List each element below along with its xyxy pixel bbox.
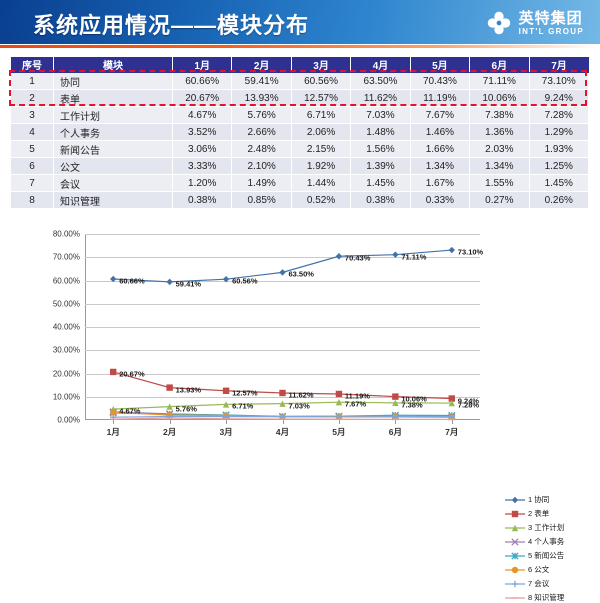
row-value-m5: 1.66% xyxy=(410,141,469,158)
y-axis-tick-label: 70.00% xyxy=(53,253,80,262)
row-module-name: 会议 xyxy=(54,175,173,192)
chart-data-label: 73.10% xyxy=(458,248,483,257)
legend-label: 7 会议 xyxy=(528,578,549,589)
chart-marker-diamond xyxy=(279,269,285,275)
legend-marker-icon xyxy=(505,495,525,505)
legend-marker-icon xyxy=(505,593,525,603)
legend-item[interactable]: 7 会议 xyxy=(505,578,597,589)
row-value-m6: 71.11% xyxy=(470,73,529,90)
table-col-header-1: 模块 xyxy=(54,57,173,73)
x-axis-tick-mark xyxy=(452,420,453,424)
table-header-row: 序号模块1月2月3月4月5月6月7月 xyxy=(11,57,589,73)
legend-item[interactable]: 8 知识管理 xyxy=(505,592,597,603)
y-axis-tick-label: 0.00% xyxy=(57,416,80,425)
row-value-m6: 7.38% xyxy=(470,107,529,124)
module-distribution-table: 序号模块1月2月3月4月5月6月7月 1协同60.66%59.41%60.56%… xyxy=(11,57,589,209)
row-value-m1: 0.38% xyxy=(173,192,232,209)
row-value-m2: 1.49% xyxy=(232,175,291,192)
chart-marker-diamond xyxy=(512,496,518,502)
legend-item[interactable]: 5 新闻公告 xyxy=(505,550,597,561)
y-axis-tick-label: 40.00% xyxy=(53,323,80,332)
chart-series-layer xyxy=(85,234,480,420)
legend-label: 4 个人事务 xyxy=(528,536,564,547)
chart-plot-area: 0.00%10.00%20.00%30.00%40.00%50.00%60.00… xyxy=(85,234,480,420)
row-value-m2: 59.41% xyxy=(232,73,291,90)
legend-marker-icon xyxy=(505,523,525,533)
chart-data-label: 11.62% xyxy=(289,390,314,399)
row-value-m2: 2.48% xyxy=(232,141,291,158)
row-value-m3: 6.71% xyxy=(291,107,350,124)
row-value-m2: 5.76% xyxy=(232,107,291,124)
chart-data-label: 7.67% xyxy=(345,400,366,409)
row-value-m6: 2.03% xyxy=(470,141,529,158)
row-value-m1: 1.20% xyxy=(173,175,232,192)
table-col-header-4: 3月 xyxy=(291,57,350,73)
table-col-header-8: 7月 xyxy=(529,57,588,73)
row-index: 7 xyxy=(11,175,54,192)
chart-legend: 1 协同2 表单3 工作计划4 个人事务5 新闻公告6 公文7 会议8 知识管理 xyxy=(505,494,597,603)
row-value-m1: 4.67% xyxy=(173,107,232,124)
chart-marker-diamond xyxy=(223,276,229,282)
x-axis-tick-label: 5月 xyxy=(332,426,345,438)
chart-data-label: 7.38% xyxy=(401,400,422,409)
logo-english-name: INT'L GROUP xyxy=(519,28,584,36)
row-value-m2: 13.93% xyxy=(232,90,291,107)
table-row: 1协同60.66%59.41%60.56%63.50%70.43%71.11%7… xyxy=(11,73,589,90)
header-divider xyxy=(0,45,600,48)
legend-item[interactable]: 1 协同 xyxy=(505,494,597,505)
chart-data-label: 71.11% xyxy=(401,252,426,261)
row-index: 4 xyxy=(11,124,54,141)
chart-data-label: 7.03% xyxy=(289,401,310,410)
row-module-name: 协同 xyxy=(54,73,173,90)
y-axis-tick-label: 10.00% xyxy=(53,392,80,401)
row-value-m1: 20.67% xyxy=(173,90,232,107)
module-trend-chart: 0.00%10.00%20.00%30.00%40.00%50.00%60.00… xyxy=(0,222,600,453)
row-value-m7: 1.29% xyxy=(529,124,588,141)
row-value-m4: 11.62% xyxy=(351,90,410,107)
table-row: 4个人事务3.52%2.66%2.06%1.48%1.46%1.36%1.29% xyxy=(11,124,589,141)
chart-data-label: 7.28% xyxy=(458,401,479,410)
chart-marker-diamond xyxy=(336,253,342,259)
chart-data-label: 60.56% xyxy=(232,277,257,286)
row-value-m7: 9.24% xyxy=(529,90,588,107)
row-value-m3: 2.06% xyxy=(291,124,350,141)
x-axis-tick-label: 2月 xyxy=(163,426,176,438)
row-value-m7: 0.26% xyxy=(529,192,588,209)
brand-logo: 英特集团 INT'L GROUP xyxy=(485,8,584,38)
chart-marker-square xyxy=(392,393,398,399)
row-value-m3: 1.44% xyxy=(291,175,350,192)
row-value-m5: 0.33% xyxy=(410,192,469,209)
legend-label: 3 工作计划 xyxy=(528,522,564,533)
chart-data-label: 12.57% xyxy=(232,388,257,397)
row-value-m6: 0.27% xyxy=(470,192,529,209)
legend-item[interactable]: 6 公文 xyxy=(505,564,597,575)
row-module-name: 新闻公告 xyxy=(54,141,173,158)
row-value-m7: 73.10% xyxy=(529,73,588,90)
row-module-name: 个人事务 xyxy=(54,124,173,141)
row-value-m3: 0.52% xyxy=(291,192,350,209)
table-row: 7会议1.20%1.49%1.44%1.45%1.67%1.55%1.45% xyxy=(11,175,589,192)
x-axis-tick-mark xyxy=(283,420,284,424)
chart-marker-diamond xyxy=(449,247,455,253)
row-value-m7: 1.45% xyxy=(529,175,588,192)
legend-marker-icon xyxy=(505,537,525,547)
table-col-header-5: 4月 xyxy=(351,57,410,73)
page-header: 系统应用情况——模块分布 英特集团 INT'L GROUP xyxy=(0,0,600,44)
row-value-m7: 1.25% xyxy=(529,158,588,175)
chart-data-label: 4.67% xyxy=(119,407,140,416)
legend-item[interactable]: 4 个人事务 xyxy=(505,536,597,547)
chart-marker-diamond xyxy=(110,276,116,282)
chart-data-label: 20.67% xyxy=(119,369,144,378)
chart-marker-star xyxy=(512,552,518,558)
chart-data-label: 60.66% xyxy=(119,276,144,285)
x-axis-tick-mark xyxy=(339,420,340,424)
chart-data-label: 70.43% xyxy=(345,254,370,263)
row-value-m5: 11.19% xyxy=(410,90,469,107)
module-distribution-table-wrapper: 序号模块1月2月3月4月5月6月7月 1协同60.66%59.41%60.56%… xyxy=(11,57,589,209)
table-col-header-0: 序号 xyxy=(11,57,54,73)
chart-marker-square xyxy=(336,391,342,397)
row-value-m3: 2.15% xyxy=(291,141,350,158)
table-row: 2表单20.67%13.93%12.57%11.62%11.19%10.06%9… xyxy=(11,90,589,107)
table-col-header-2: 1月 xyxy=(173,57,232,73)
row-value-m4: 1.45% xyxy=(351,175,410,192)
row-value-m5: 1.67% xyxy=(410,175,469,192)
x-axis-tick-label: 4月 xyxy=(276,426,289,438)
row-value-m6: 1.55% xyxy=(470,175,529,192)
table-row: 8知识管理0.38%0.85%0.52%0.38%0.33%0.27%0.26% xyxy=(11,192,589,209)
table-col-header-3: 2月 xyxy=(232,57,291,73)
x-axis-tick-mark xyxy=(170,420,171,424)
row-value-m7: 7.28% xyxy=(529,107,588,124)
x-axis-tick-label: 6月 xyxy=(389,426,402,438)
row-value-m1: 3.52% xyxy=(173,124,232,141)
row-value-m4: 1.56% xyxy=(351,141,410,158)
row-index: 5 xyxy=(11,141,54,158)
row-value-m2: 0.85% xyxy=(232,192,291,209)
row-value-m3: 1.92% xyxy=(291,158,350,175)
row-value-m2: 2.10% xyxy=(232,158,291,175)
row-module-name: 表单 xyxy=(54,90,173,107)
y-axis-tick-label: 20.00% xyxy=(53,369,80,378)
y-axis-tick-label: 50.00% xyxy=(53,299,80,308)
legend-marker-icon xyxy=(505,565,525,575)
row-index: 1 xyxy=(11,73,54,90)
table-body: 1协同60.66%59.41%60.56%63.50%70.43%71.11%7… xyxy=(11,73,589,209)
row-module-name: 公文 xyxy=(54,158,173,175)
x-axis-tick-label: 7月 xyxy=(445,426,458,438)
row-value-m4: 63.50% xyxy=(351,73,410,90)
row-value-m2: 2.66% xyxy=(232,124,291,141)
y-axis-tick-label: 30.00% xyxy=(53,346,80,355)
legend-item[interactable]: 2 表单 xyxy=(505,508,597,519)
chart-marker-square xyxy=(512,510,518,516)
row-value-m1: 3.33% xyxy=(173,158,232,175)
table-row: 3工作计划4.67%5.76%6.71%7.03%7.67%7.38%7.28% xyxy=(11,107,589,124)
row-value-m1: 60.66% xyxy=(173,73,232,90)
chart-marker-square xyxy=(223,388,229,394)
logo-chinese-name: 英特集团 xyxy=(519,11,584,26)
y-axis-tick-label: 60.00% xyxy=(53,276,80,285)
chart-marker-square xyxy=(166,384,172,390)
row-value-m6: 10.06% xyxy=(470,90,529,107)
row-value-m5: 1.34% xyxy=(410,158,469,175)
row-index: 8 xyxy=(11,192,54,209)
pinwheel-logo-icon xyxy=(485,9,513,37)
page-title: 系统应用情况——模块分布 xyxy=(33,8,309,40)
x-axis-tick-mark xyxy=(113,420,114,424)
chart-marker-square xyxy=(279,390,285,396)
table-col-header-6: 5月 xyxy=(410,57,469,73)
x-axis-tick-mark xyxy=(226,420,227,424)
row-value-m4: 1.48% xyxy=(351,124,410,141)
row-value-m6: 1.36% xyxy=(470,124,529,141)
x-axis-tick-label: 1月 xyxy=(107,426,120,438)
row-value-m1: 3.06% xyxy=(173,141,232,158)
chart-data-label: 63.50% xyxy=(289,270,314,279)
row-module-name: 工作计划 xyxy=(54,107,173,124)
legend-label: 2 表单 xyxy=(528,508,549,519)
legend-label: 1 协同 xyxy=(528,494,549,505)
table-col-header-7: 6月 xyxy=(470,57,529,73)
chart-marker-diamond xyxy=(392,251,398,257)
row-index: 2 xyxy=(11,90,54,107)
y-axis-tick-label: 80.00% xyxy=(53,230,80,239)
chart-data-label: 59.41% xyxy=(176,279,201,288)
x-axis-tick-mark xyxy=(395,420,396,424)
legend-item[interactable]: 3 工作计划 xyxy=(505,522,597,533)
row-value-m3: 12.57% xyxy=(291,90,350,107)
chart-marker-diamond xyxy=(166,279,172,285)
legend-label: 6 公文 xyxy=(528,564,549,575)
row-value-m5: 70.43% xyxy=(410,73,469,90)
chart-data-label: 13.93% xyxy=(176,385,201,394)
row-value-m7: 1.93% xyxy=(529,141,588,158)
x-axis-tick-labels: 1月2月3月4月5月6月7月 xyxy=(85,422,480,440)
row-module-name: 知识管理 xyxy=(54,192,173,209)
chart-marker-square xyxy=(110,369,116,375)
row-value-m5: 7.67% xyxy=(410,107,469,124)
legend-label: 5 新闻公告 xyxy=(528,550,564,561)
chart-data-label: 5.76% xyxy=(176,404,197,413)
x-axis-tick-label: 3月 xyxy=(219,426,232,438)
chart-marker-circle xyxy=(512,566,518,572)
row-index: 6 xyxy=(11,158,54,175)
legend-marker-icon xyxy=(505,509,525,519)
row-index: 3 xyxy=(11,107,54,124)
chart-data-label: 6.71% xyxy=(232,402,253,411)
row-value-m3: 60.56% xyxy=(291,73,350,90)
row-value-m4: 0.38% xyxy=(351,192,410,209)
table-row: 6公文3.33%2.10%1.92%1.39%1.34%1.34%1.25% xyxy=(11,158,589,175)
row-value-m5: 1.46% xyxy=(410,124,469,141)
row-value-m4: 1.39% xyxy=(351,158,410,175)
legend-marker-icon xyxy=(505,579,525,589)
row-value-m6: 1.34% xyxy=(470,158,529,175)
legend-marker-icon xyxy=(505,551,525,561)
table-row: 5新闻公告3.06%2.48%2.15%1.56%1.66%2.03%1.93% xyxy=(11,141,589,158)
legend-label: 8 知识管理 xyxy=(528,592,564,603)
row-value-m4: 7.03% xyxy=(351,107,410,124)
chart-marker-plus xyxy=(512,580,518,586)
